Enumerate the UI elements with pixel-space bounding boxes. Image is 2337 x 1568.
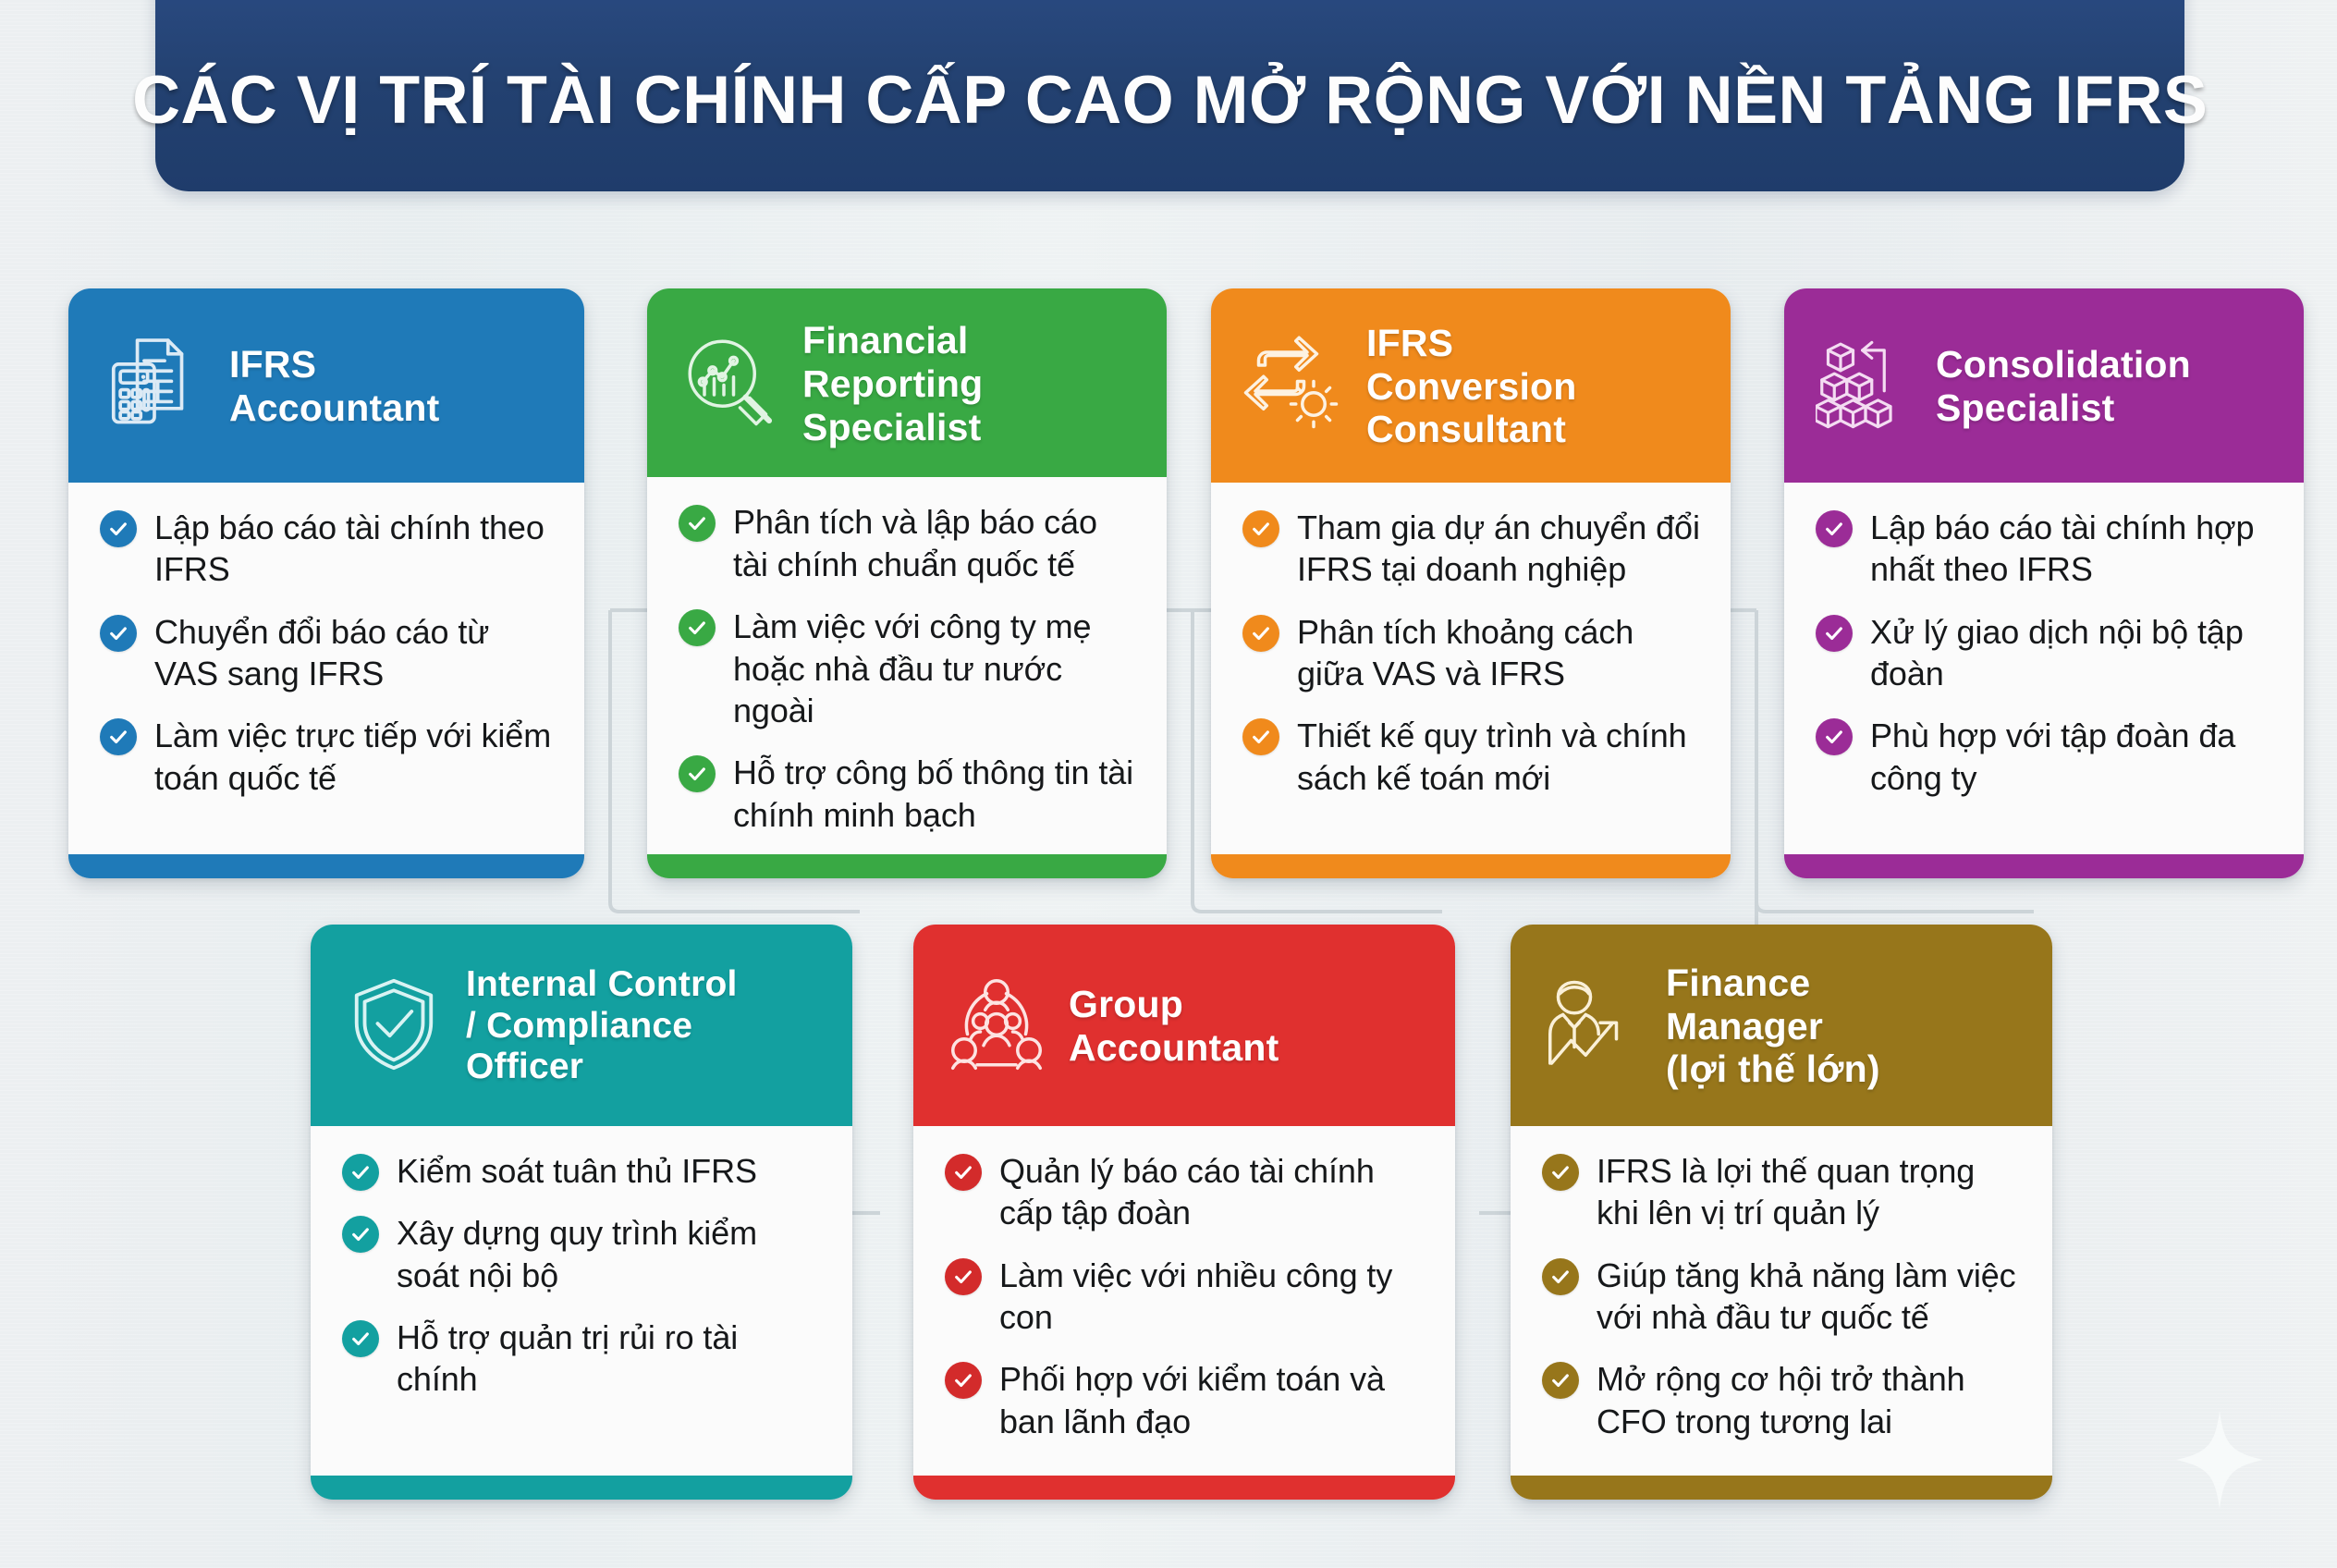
- card-title-line: Finance: [1666, 962, 1810, 1004]
- card-ifrs-conversion-consultant[interactable]: IFRS Conversion Consultant Tham gia dự á…: [1211, 288, 1731, 878]
- list-item-text: Phù hợp với tập đoàn đa công ty: [1870, 715, 2276, 799]
- list-item: Làm việc với công ty mẹ hoặc nhà đầu tư …: [679, 606, 1139, 731]
- card-ifrs-accountant[interactable]: IFRS Accountant Lập báo cáo tài chính th…: [68, 288, 584, 878]
- card-title: IFRS Accountant: [229, 343, 440, 429]
- check-icon: [1816, 615, 1853, 652]
- card-title-line: Specialist: [802, 406, 981, 448]
- list-item-text: Phối hợp với kiểm toán và ban lãnh đạo: [999, 1358, 1427, 1442]
- list-item-text: Xây dựng quy trình kiểm soát nội bộ: [397, 1212, 825, 1296]
- list-item-text: Kiểm soát tuân thủ IFRS: [397, 1150, 757, 1192]
- list-item: Kiểm soát tuân thủ IFRS: [342, 1150, 825, 1192]
- check-icon: [1242, 615, 1279, 652]
- card-title-line: Conversion: [1366, 365, 1577, 408]
- list-item-text: Lập báo cáo tài chính theo IFRS: [154, 507, 557, 591]
- check-icon: [100, 510, 137, 547]
- check-icon: [342, 1154, 379, 1191]
- card-group-accountant[interactable]: Group Accountant Quản lý báo cáo tài chí…: [913, 925, 1455, 1500]
- check-icon: [1542, 1154, 1579, 1191]
- list-item: Mở rộng cơ hội trở thành CFO trong tương…: [1542, 1358, 2025, 1442]
- header-banner: CÁC VỊ TRÍ TÀI CHÍNH CẤP CAO MỞ RỘNG VỚI…: [155, 0, 2184, 191]
- card-header: IFRS Conversion Consultant: [1211, 288, 1731, 483]
- list-item: Xử lý giao dịch nội bộ tập đoàn: [1816, 611, 2276, 695]
- list-item: Hỗ trợ quản trị rủi ro tài chính: [342, 1317, 825, 1401]
- card-title-line: Internal Control: [466, 964, 738, 1004]
- card-internal-control-compliance-officer[interactable]: Internal Control / Compliance Officer Ki…: [311, 925, 852, 1500]
- card-bullet-list: Lập báo cáo tài chính theo IFRS Chuyển đ…: [68, 483, 584, 854]
- check-icon: [342, 1320, 379, 1357]
- check-icon: [945, 1362, 982, 1399]
- card-title-line: (lợi thế lớn): [1666, 1047, 1880, 1090]
- card-header: Finance Manager (lợi thế lớn): [1511, 925, 2052, 1126]
- list-item-text: Chuyển đổi báo cáo từ VAS sang IFRS: [154, 611, 557, 695]
- list-item: Tham gia dự án chuyển đổi IFRS tại doanh…: [1242, 507, 1703, 591]
- card-title-line: Consolidation: [1936, 343, 2191, 386]
- card-financial-reporting-specialist[interactable]: Financial Reporting Specialist Phân tích…: [647, 288, 1167, 878]
- check-icon: [100, 615, 137, 652]
- list-item: Phối hợp với kiểm toán và ban lãnh đạo: [945, 1358, 1427, 1442]
- card-footer-bar: [913, 1476, 1455, 1500]
- businessman-growth-arrow-icon: [1542, 973, 1646, 1081]
- card-header: Consolidation Specialist: [1784, 288, 2304, 483]
- calculator-document-icon: [100, 330, 209, 444]
- list-item-text: Phân tích khoảng cách giữa VAS và IFRS: [1297, 611, 1703, 695]
- card-header: Financial Reporting Specialist: [647, 288, 1167, 477]
- list-item-text: Quản lý báo cáo tài chính cấp tập đoàn: [999, 1150, 1427, 1234]
- card-bullet-list: Lập báo cáo tài chính hợp nhất theo IFRS…: [1784, 483, 2304, 854]
- list-item: Hỗ trợ công bố thông tin tài chính minh …: [679, 752, 1139, 836]
- card-title-line: Consultant: [1366, 408, 1566, 450]
- list-item: Xây dựng quy trình kiểm soát nội bộ: [342, 1212, 825, 1296]
- check-icon: [1816, 510, 1853, 547]
- shield-check-icon: [342, 973, 446, 1081]
- check-icon: [1816, 718, 1853, 755]
- list-item: Quản lý báo cáo tài chính cấp tập đoàn: [945, 1150, 1427, 1234]
- list-item: IFRS là lợi thế quan trọng khi lên vị tr…: [1542, 1150, 2025, 1234]
- page-title: CÁC VỊ TRÍ TÀI CHÍNH CẤP CAO MỞ RỘNG VỚI…: [132, 67, 2208, 191]
- list-item: Phù hợp với tập đoàn đa công ty: [1816, 715, 2276, 799]
- arrows-gear-icon: [1242, 333, 1346, 441]
- card-title-line: Accountant: [229, 386, 440, 429]
- list-item-text: Hỗ trợ quản trị rủi ro tài chính: [397, 1317, 825, 1401]
- card-title-line: IFRS: [229, 343, 316, 386]
- card-footer-bar: [68, 854, 584, 878]
- card-bullet-list: IFRS là lợi thế quan trọng khi lên vị tr…: [1511, 1126, 2052, 1476]
- check-icon: [945, 1258, 982, 1295]
- list-item: Làm việc trực tiếp với kiểm toán quốc tế: [100, 715, 557, 799]
- card-footer-bar: [1511, 1476, 2052, 1500]
- card-footer-bar: [311, 1476, 852, 1500]
- list-item: Phân tích và lập báo cáo tài chính chuẩn…: [679, 501, 1139, 585]
- list-item-text: Mở rộng cơ hội trở thành CFO trong tương…: [1597, 1358, 2025, 1442]
- list-item: Giúp tăng khả năng làm việc với nhà đầu …: [1542, 1255, 2025, 1339]
- check-icon: [1242, 718, 1279, 755]
- list-item: Chuyển đổi báo cáo từ VAS sang IFRS: [100, 611, 557, 695]
- list-item-text: Hỗ trợ công bố thông tin tài chính minh …: [733, 752, 1139, 836]
- list-item: Lập báo cáo tài chính hợp nhất theo IFRS: [1816, 507, 2276, 591]
- card-footer-bar: [1211, 854, 1731, 878]
- sparkle-star-icon: [2174, 1409, 2265, 1511]
- card-title-line: Specialist: [1936, 386, 2114, 429]
- list-item-text: Thiết kế quy trình và chính sách kế toán…: [1297, 715, 1703, 799]
- check-icon: [100, 718, 137, 755]
- list-item-text: Lập báo cáo tài chính hợp nhất theo IFRS: [1870, 507, 2276, 591]
- list-item-text: Giúp tăng khả năng làm việc với nhà đầu …: [1597, 1255, 2025, 1339]
- card-title-line: Group: [1069, 983, 1183, 1025]
- card-title-line: Manager: [1666, 1005, 1823, 1047]
- card-title-line: / Compliance: [466, 1006, 692, 1046]
- card-bullet-list: Kiểm soát tuân thủ IFRS Xây dựng quy trì…: [311, 1126, 852, 1476]
- check-icon: [679, 505, 716, 542]
- card-bullet-list: Tham gia dự án chuyển đổi IFRS tại doanh…: [1211, 483, 1731, 854]
- list-item: Làm việc với nhiều công ty con: [945, 1255, 1427, 1339]
- check-icon: [679, 755, 716, 792]
- list-item-text: Làm việc với nhiều công ty con: [999, 1255, 1427, 1339]
- check-icon: [1242, 510, 1279, 547]
- card-header: IFRS Accountant: [68, 288, 584, 483]
- card-bullet-list: Phân tích và lập báo cáo tài chính chuẩn…: [647, 477, 1167, 854]
- card-consolidation-specialist[interactable]: Consolidation Specialist Lập báo cáo tài…: [1784, 288, 2304, 878]
- card-header: Internal Control / Compliance Officer: [311, 925, 852, 1126]
- card-title: IFRS Conversion Consultant: [1366, 322, 1577, 451]
- card-title: Finance Manager (lợi thế lớn): [1666, 962, 1880, 1091]
- check-icon: [679, 609, 716, 646]
- list-item-text: Làm việc với công ty mẹ hoặc nhà đầu tư …: [733, 606, 1139, 731]
- card-title-line: IFRS: [1366, 322, 1453, 364]
- list-item: Thiết kế quy trình và chính sách kế toán…: [1242, 715, 1703, 799]
- people-network-icon: [945, 973, 1048, 1081]
- card-title: Financial Reporting Specialist: [802, 319, 983, 448]
- check-icon: [1542, 1258, 1579, 1295]
- check-icon: [945, 1154, 982, 1191]
- card-title: Consolidation Specialist: [1936, 343, 2191, 429]
- card-finance-manager[interactable]: Finance Manager (lợi thế lớn) IFRS là lợ…: [1511, 925, 2052, 1500]
- check-icon: [342, 1216, 379, 1253]
- list-item-text: Xử lý giao dịch nội bộ tập đoàn: [1870, 611, 2276, 695]
- list-item: Lập báo cáo tài chính theo IFRS: [100, 507, 557, 591]
- card-header: Group Accountant: [913, 925, 1455, 1126]
- card-bullet-list: Quản lý báo cáo tài chính cấp tập đoàn L…: [913, 1126, 1455, 1476]
- magnifier-chart-icon: [679, 330, 782, 438]
- stacked-cubes-icon: [1816, 335, 1915, 439]
- check-icon: [1542, 1362, 1579, 1399]
- card-title-line: Accountant: [1069, 1026, 1279, 1069]
- card-footer-bar: [1784, 854, 2304, 878]
- card-title-line: Financial: [802, 319, 969, 361]
- list-item: Phân tích khoảng cách giữa VAS và IFRS: [1242, 611, 1703, 695]
- list-item-text: Làm việc trực tiếp với kiểm toán quốc tế: [154, 715, 557, 799]
- card-title: Group Accountant: [1069, 983, 1279, 1069]
- card-footer-bar: [647, 854, 1167, 878]
- list-item-text: Tham gia dự án chuyển đổi IFRS tại doanh…: [1297, 507, 1703, 591]
- card-title-line: Reporting: [802, 362, 983, 405]
- list-item-text: IFRS là lợi thế quan trọng khi lên vị tr…: [1597, 1150, 2025, 1234]
- card-title-line: Officer: [466, 1047, 583, 1086]
- list-item-text: Phân tích và lập báo cáo tài chính chuẩn…: [733, 501, 1139, 585]
- card-title: Internal Control / Compliance Officer: [466, 964, 738, 1087]
